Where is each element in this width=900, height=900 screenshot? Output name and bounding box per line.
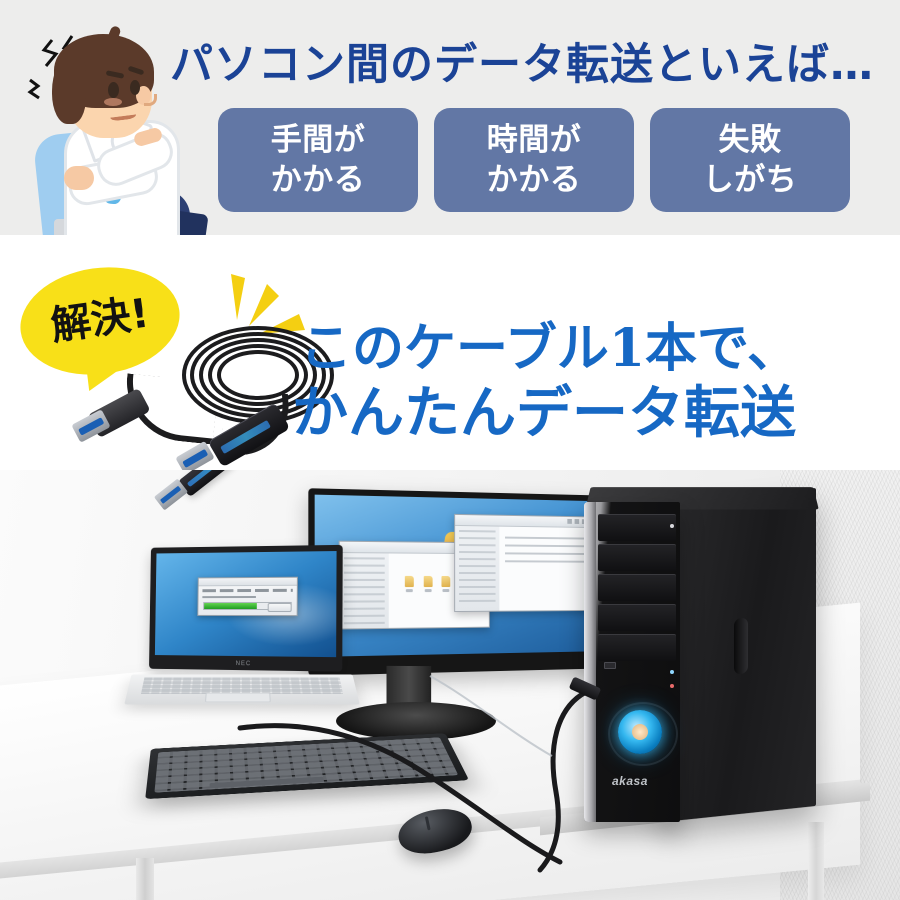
- laptop-touchpad[interactable]: [205, 693, 271, 702]
- nose: [144, 94, 157, 106]
- badge-line-2: かかる: [271, 160, 366, 200]
- eye-left: [108, 82, 119, 98]
- product-usage-photo: NEC: [0, 470, 900, 900]
- power-button-icon[interactable]: [670, 524, 674, 528]
- worried-businessman-illustration: [8, 14, 183, 236]
- case-fan-led: [618, 710, 662, 754]
- laptop-lid: NEC: [149, 545, 343, 672]
- hair-sideburn: [52, 58, 86, 124]
- drive-bay: [598, 574, 676, 601]
- file-transfer-dialog: [197, 577, 297, 617]
- laptop-brand-label: NEC: [236, 661, 251, 667]
- promo-page: パソコン間のデータ転送といえば… 手間が かかる 時間が かかる 失敗 しがち …: [0, 0, 900, 900]
- blush: [104, 98, 122, 106]
- tower-chrome-bezel: [584, 502, 596, 822]
- badge-line-1: 時間が: [487, 120, 582, 160]
- drive-bay: [598, 604, 676, 631]
- drive-bay: [598, 514, 676, 541]
- dialog-subtext-line: [202, 596, 255, 598]
- problem-badge: 時間が かかる: [434, 108, 634, 212]
- nec-laptop: NEC: [128, 546, 358, 696]
- badge-line-2: しがち: [703, 160, 798, 200]
- laptop-screen: [155, 551, 337, 657]
- solution-headline-line-2: かんたんデータ転送: [292, 380, 900, 446]
- power-led-icon: [670, 670, 674, 674]
- folder-icon: [405, 576, 414, 587]
- problem-headline: パソコン間のデータ転送といえば…: [170, 36, 890, 94]
- problem-badge: 失敗 しがち: [650, 108, 850, 212]
- problem-badge: 手間が かかる: [218, 108, 418, 212]
- problem-badge-list: 手間が かかる 時間が かかる 失敗 しがち: [218, 108, 850, 212]
- hdd-led-icon: [670, 684, 674, 688]
- desktop-tower-pc: akasa: [566, 478, 816, 830]
- dialog-text-line: [203, 589, 293, 592]
- folder-icon: [441, 576, 450, 587]
- tower-side-handle: [734, 617, 748, 674]
- tower-brand-label: akasa: [612, 774, 672, 788]
- shelf-leg: [808, 822, 824, 900]
- solution-headline-line-1: このケーブル1本で、: [300, 318, 900, 380]
- badge-line-1: 失敗: [719, 120, 782, 160]
- eye-right: [130, 80, 140, 95]
- hand: [64, 166, 94, 190]
- window-nav-pane: [455, 526, 500, 612]
- laptop-base: [124, 674, 360, 704]
- folder-icon: [423, 576, 432, 587]
- desk-leg: [136, 858, 154, 900]
- dialog-cancel-button[interactable]: [267, 603, 291, 612]
- dialog-titlebar: [199, 578, 297, 587]
- badge-line-1: 手間が: [271, 120, 366, 160]
- drive-bay: [598, 634, 676, 661]
- drive-bay: [598, 544, 676, 571]
- tower-front-panel: akasa: [584, 502, 680, 822]
- laptop-keyboard[interactable]: [141, 678, 343, 695]
- solution-headline: このケーブル1本で、 かんたんデータ転送: [300, 318, 900, 446]
- front-usb-port[interactable]: [604, 662, 616, 669]
- badge-line-2: かかる: [487, 160, 582, 200]
